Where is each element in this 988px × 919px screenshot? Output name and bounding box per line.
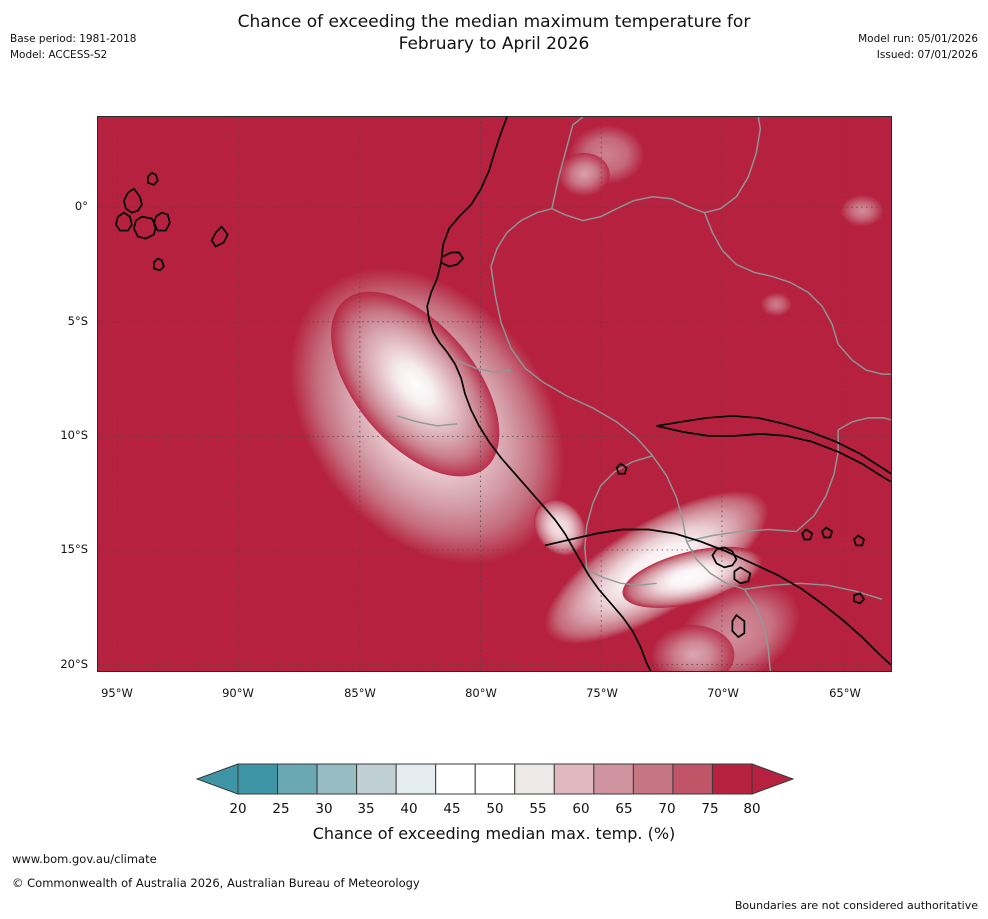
colorbar-tick-3: 35 xyxy=(357,801,374,817)
title-line-2: February to April 2026 xyxy=(0,33,988,55)
colorbar-tick-9: 65 xyxy=(615,801,632,817)
colorbar-arrow-under xyxy=(197,764,238,794)
colorbar-cell-35 xyxy=(357,764,397,794)
colorbar-cell-60 xyxy=(554,764,594,794)
title-line-1: Chance of exceeding the median maximum t… xyxy=(0,11,988,33)
footer-url[interactable]: www.bom.gov.au/climate xyxy=(12,852,157,866)
x-tick-label-2: 85°W xyxy=(344,686,376,700)
probability-heatmap xyxy=(98,117,891,671)
colorbar-cell-65 xyxy=(594,764,634,794)
colorbar-cells xyxy=(197,764,793,794)
colorbar-cell-50 xyxy=(475,764,515,794)
x-tick-label-5: 70°W xyxy=(707,686,739,700)
colorbar-tick-2: 30 xyxy=(315,801,332,817)
colorbar-cell-40 xyxy=(396,764,436,794)
x-tick-label-3: 80°W xyxy=(465,686,497,700)
colorbar-cell-75 xyxy=(673,764,713,794)
colorbar-axis-label: Chance of exceeding median max. temp. (%… xyxy=(0,824,988,843)
y-tick-label-1: 5°S xyxy=(0,314,88,328)
y-tick-label-2: 10°S xyxy=(0,428,88,442)
colorbar-arrow-over xyxy=(752,764,793,794)
colorbar-cell-55 xyxy=(515,764,555,794)
colorbar-cell-20 xyxy=(238,764,278,794)
x-tick-label-4: 75°W xyxy=(586,686,618,700)
x-tick-label-1: 90°W xyxy=(222,686,254,700)
colorbar-cell-70 xyxy=(633,764,673,794)
x-tick-label-6: 65°W xyxy=(829,686,861,700)
colorbar-tick-6: 50 xyxy=(486,801,503,817)
x-tick-label-0: 95°W xyxy=(101,686,133,700)
y-tick-label-4: 20°S xyxy=(0,657,88,671)
map-plot-area xyxy=(97,116,892,672)
y-tick-label-0: 0° xyxy=(0,199,88,213)
footer-copyright: © Commonwealth of Australia 2026, Austra… xyxy=(12,876,420,890)
colorbar-tick-0: 20 xyxy=(229,801,246,817)
colorbar-tick-8: 60 xyxy=(572,801,589,817)
y-tick-label-3: 15°S xyxy=(0,542,88,556)
colorbar-tick-1: 25 xyxy=(272,801,289,817)
colorbar-tick-4: 40 xyxy=(400,801,417,817)
footer-disclaimer: Boundaries are not considered authoritat… xyxy=(735,899,978,912)
colorbar-tick-11: 75 xyxy=(701,801,718,817)
colorbar-tick-10: 70 xyxy=(658,801,675,817)
colorbar-tick-7: 55 xyxy=(529,801,546,817)
colorbar-cell-80 xyxy=(712,764,752,794)
colorbar-cell-45 xyxy=(436,764,476,794)
colorbar-tick-12: 80 xyxy=(743,801,760,817)
colorbar-cell-30 xyxy=(317,764,357,794)
colorbar xyxy=(190,760,800,802)
colorbar-cell-25 xyxy=(278,764,318,794)
page-title: Chance of exceeding the median maximum t… xyxy=(0,11,988,56)
colorbar-tick-5: 45 xyxy=(443,801,460,817)
